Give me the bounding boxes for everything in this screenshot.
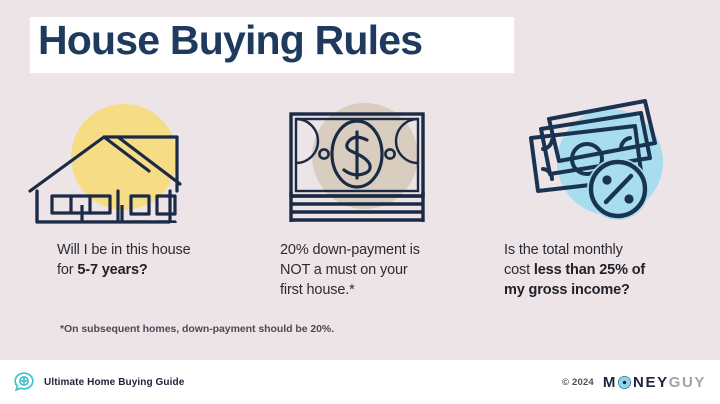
caption-highlight-1: less than 25% of [534, 262, 645, 278]
caption-line-1: Is the total monthly [504, 242, 623, 258]
banknotes-percent-icon [505, 92, 695, 230]
banknotes-percent-icon-wrap [480, 92, 720, 230]
caption-line-1: Will I be in this house [57, 242, 191, 258]
brand-globe-o-icon [618, 376, 631, 389]
house-icon [25, 92, 215, 230]
rule-caption-house: Will I be in this house for 5-7 years? [57, 240, 247, 280]
caption-line-2: for [57, 262, 77, 278]
rule-caption-percent: Is the total monthly cost less than 25% … [504, 240, 704, 300]
footer-guide-link[interactable]: Ultimate Home Buying Guide [12, 370, 184, 394]
footer-guide-label: Ultimate Home Buying Guide [44, 377, 184, 388]
rule-caption-cash: 20% down-payment is NOT a must on your f… [280, 240, 480, 300]
brand-letters-guy: GUY [669, 374, 706, 391]
copyright-text: © 2024 [562, 377, 594, 388]
cash-stack-icon-wrap [240, 92, 480, 230]
page-title: House Buying Rules [38, 16, 422, 64]
footnote-text: *On subsequent homes, down-payment shoul… [60, 323, 334, 335]
bubble-plus-icon [12, 370, 36, 394]
caption-line-3: first house.* [280, 282, 355, 298]
brand-letters-ney: NEY [633, 374, 669, 391]
caption-line-2: NOT a must on your [280, 262, 408, 278]
caption-line-2: cost [504, 262, 534, 278]
caption-highlight-2: my gross income? [504, 282, 630, 298]
caption-line-1: 20% down-payment is [280, 242, 420, 258]
footer-bar: Ultimate Home Buying Guide © 2024 M NEY … [0, 360, 720, 404]
house-icon-wrap [0, 92, 240, 230]
rule-column-cash: 20% down-payment is NOT a must on your f… [240, 92, 480, 312]
moneyguy-logo[interactable]: M NEY GUY [603, 374, 706, 391]
rules-columns: Will I be in this house for 5-7 years? [0, 92, 720, 312]
footer-brand-group: © 2024 M NEY GUY [562, 374, 706, 391]
cash-stack-icon [265, 92, 455, 230]
infographic-canvas: House Buying Rules [0, 0, 720, 404]
rule-column-percent: Is the total monthly cost less than 25% … [480, 92, 720, 312]
brand-letter-m: M [603, 374, 617, 391]
rule-column-house: Will I be in this house for 5-7 years? [0, 92, 240, 312]
caption-highlight: 5-7 years? [77, 262, 147, 278]
